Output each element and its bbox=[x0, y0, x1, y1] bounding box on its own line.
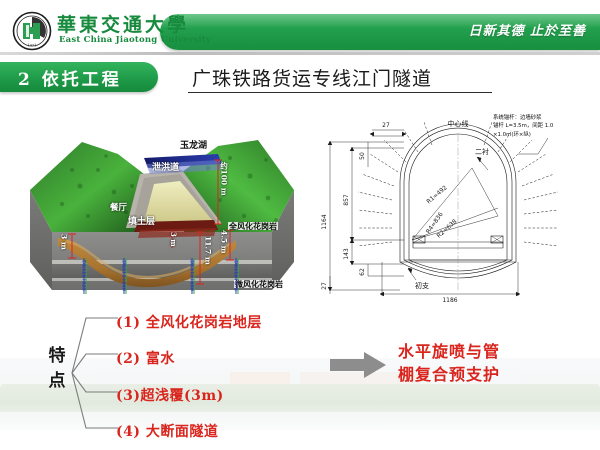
university-name-en: East China Jiaotong University bbox=[59, 35, 211, 45]
geo-dim-cover: 3 m bbox=[60, 234, 68, 250]
feature-list-heading: 特点 bbox=[44, 344, 70, 393]
bolt-spec-note: 系统锚杆：边墙砂浆 锚杆 L=3.5m，间距 1.0 ×1.0m(环×纵) bbox=[493, 114, 597, 139]
tunnel-section-svg: 1164 857 50 27 143 62 27 1186 R1=492 R4=… bbox=[312, 112, 600, 304]
svg-text:62: 62 bbox=[359, 268, 366, 276]
svg-text:中心线: 中心线 bbox=[448, 119, 469, 128]
svg-text:二衬: 二衬 bbox=[475, 147, 489, 156]
geo-label-spillway: 泄洪道 bbox=[152, 164, 179, 173]
geo-label-fully-weathered: 全风化花岗岩 bbox=[228, 222, 278, 230]
tunnel-section-diagram: 1164 857 50 27 143 62 27 1186 R1=492 R4=… bbox=[312, 112, 600, 304]
feature-item-1: (1) 全风化花岗岩地层 bbox=[116, 312, 262, 332]
header-divider bbox=[0, 52, 600, 55]
svg-text:27: 27 bbox=[321, 282, 328, 290]
section-tab-label: 2 依托工程 bbox=[18, 65, 122, 90]
bolt-note-line-1: 系统锚杆：边墙砂浆 bbox=[493, 114, 597, 122]
svg-text:1971: 1971 bbox=[28, 44, 37, 48]
geology-diagram: 玉龙湖 泄洪道 约100 m 餐厅 填土层 全风化花岗岩 微风化花岗岩 3 m … bbox=[22, 112, 304, 302]
geo-label-restaurant: 餐厅 bbox=[110, 204, 127, 213]
geo-label-lake: 玉龙湖 bbox=[180, 142, 207, 151]
feature-list: 特点 (1) 全风化花岗岩地层 (2) 富水 (3)超浅覆(3m) (4) 大断… bbox=[38, 312, 328, 434]
conclusion-line-2: 棚复合预支护 bbox=[398, 363, 578, 386]
svg-text:27: 27 bbox=[382, 122, 390, 129]
svg-text:R1=492: R1=492 bbox=[425, 184, 448, 205]
svg-text:初支: 初支 bbox=[415, 281, 429, 290]
borehole-label: DK111+560 bbox=[120, 260, 125, 291]
university-motto: 日新其德 止於至善 bbox=[468, 20, 586, 39]
slide-title-row: 2 依托工程 广珠铁路货运专线江门隧道 bbox=[0, 62, 600, 94]
geo-label-lake-width: 约100 m bbox=[220, 162, 228, 196]
right-arrow-icon bbox=[330, 352, 386, 378]
borehole-label: DK111+675 bbox=[232, 260, 237, 291]
svg-text:857: 857 bbox=[343, 194, 350, 206]
svg-text:50: 50 bbox=[359, 152, 366, 160]
page-title: 广珠铁路货运专线江门隧道 bbox=[192, 64, 432, 91]
conclusion-line-1: 水平旋喷与管 bbox=[398, 340, 578, 363]
university-name-cn: 華東交通大學 bbox=[57, 10, 189, 37]
bolt-note-line-3: ×1.0m(环×纵) bbox=[493, 131, 597, 139]
arrow-container bbox=[330, 352, 386, 378]
header-green-banner: 日新其德 止於至善 bbox=[160, 14, 600, 50]
title-underline bbox=[188, 92, 492, 93]
svg-text:143: 143 bbox=[343, 248, 350, 260]
conclusion-text: 水平旋喷与管 棚复合预支护 bbox=[398, 340, 578, 386]
borehole-label: DK111+650 bbox=[188, 260, 193, 291]
geo-label-fill-layer: 填土层 bbox=[128, 218, 155, 227]
university-logo: 1971 華東交通大學 East China Jiaotong Universi… bbox=[12, 8, 192, 54]
svg-text:1164: 1164 bbox=[321, 214, 328, 229]
geo-dim-tunnel-2: 3 m bbox=[170, 232, 177, 247]
feature-item-4: (4) 大断面隧道 bbox=[116, 421, 218, 441]
svg-text:1186: 1186 bbox=[442, 297, 457, 304]
feature-item-3: (3)超浅覆(3m) bbox=[116, 385, 224, 405]
borehole-label: DK111+525 bbox=[80, 260, 85, 291]
geo-dim-fw: 4.5 m bbox=[220, 230, 228, 254]
university-seal-icon: 1971 bbox=[12, 11, 52, 51]
slide-header: 日新其德 止於至善 1971 華東交通大學 East China Jiaoton… bbox=[0, 0, 600, 58]
section-tab: 2 依托工程 bbox=[0, 62, 158, 92]
geology-svg bbox=[22, 112, 304, 302]
geo-dim-tunnel: 11.7 m bbox=[204, 236, 212, 265]
geo-label-slightly-weathered: 微风化花岗岩 bbox=[234, 280, 284, 288]
bolt-note-line-2: 锚杆 L=3.5m，间距 1.0 bbox=[493, 122, 597, 130]
brace-connector bbox=[68, 312, 120, 434]
feature-item-2: (2) 富水 bbox=[116, 348, 175, 368]
